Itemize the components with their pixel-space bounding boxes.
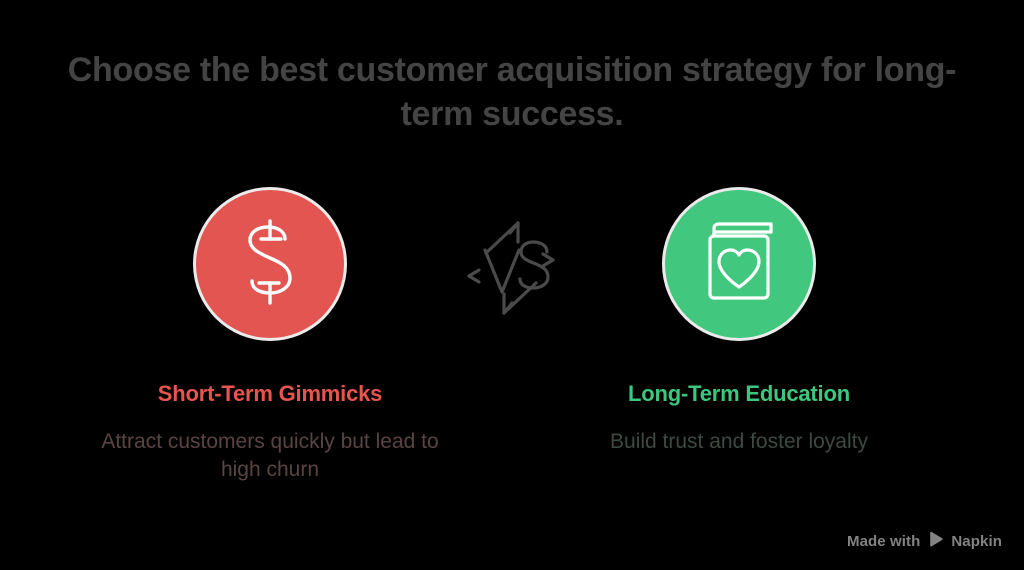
icon-circle-wrapper-left bbox=[90, 188, 450, 340]
icon-circle-wrapper-right bbox=[559, 188, 919, 340]
versus-burst-icon bbox=[455, 212, 567, 324]
option-description-left: Attract customers quickly but lead to hi… bbox=[90, 428, 450, 484]
napkin-watermark: Made with Napkin bbox=[847, 531, 1002, 552]
page-title: Choose the best customer acquisition str… bbox=[62, 48, 962, 136]
option-heading-right: Long-Term Education bbox=[559, 381, 919, 407]
watermark-brand-label: Napkin bbox=[951, 533, 1002, 550]
option-heading-left: Short-Term Gimmicks bbox=[90, 381, 450, 407]
book-heart-icon bbox=[697, 219, 781, 310]
option-description-right: Build trust and foster loyalty bbox=[559, 428, 919, 456]
option-column-right: Long-Term Education Build trust and fost… bbox=[559, 188, 919, 456]
option-column-left: Short-Term Gimmicks Attract customers qu… bbox=[90, 188, 450, 484]
icon-circle-left bbox=[196, 190, 344, 338]
watermark-made-with-label: Made with bbox=[847, 533, 920, 550]
icon-circle-right bbox=[665, 190, 813, 338]
infographic-canvas: Choose the best customer acquisition str… bbox=[0, 0, 1024, 570]
napkin-play-logo bbox=[927, 531, 944, 552]
dollar-sign-icon bbox=[233, 219, 307, 310]
